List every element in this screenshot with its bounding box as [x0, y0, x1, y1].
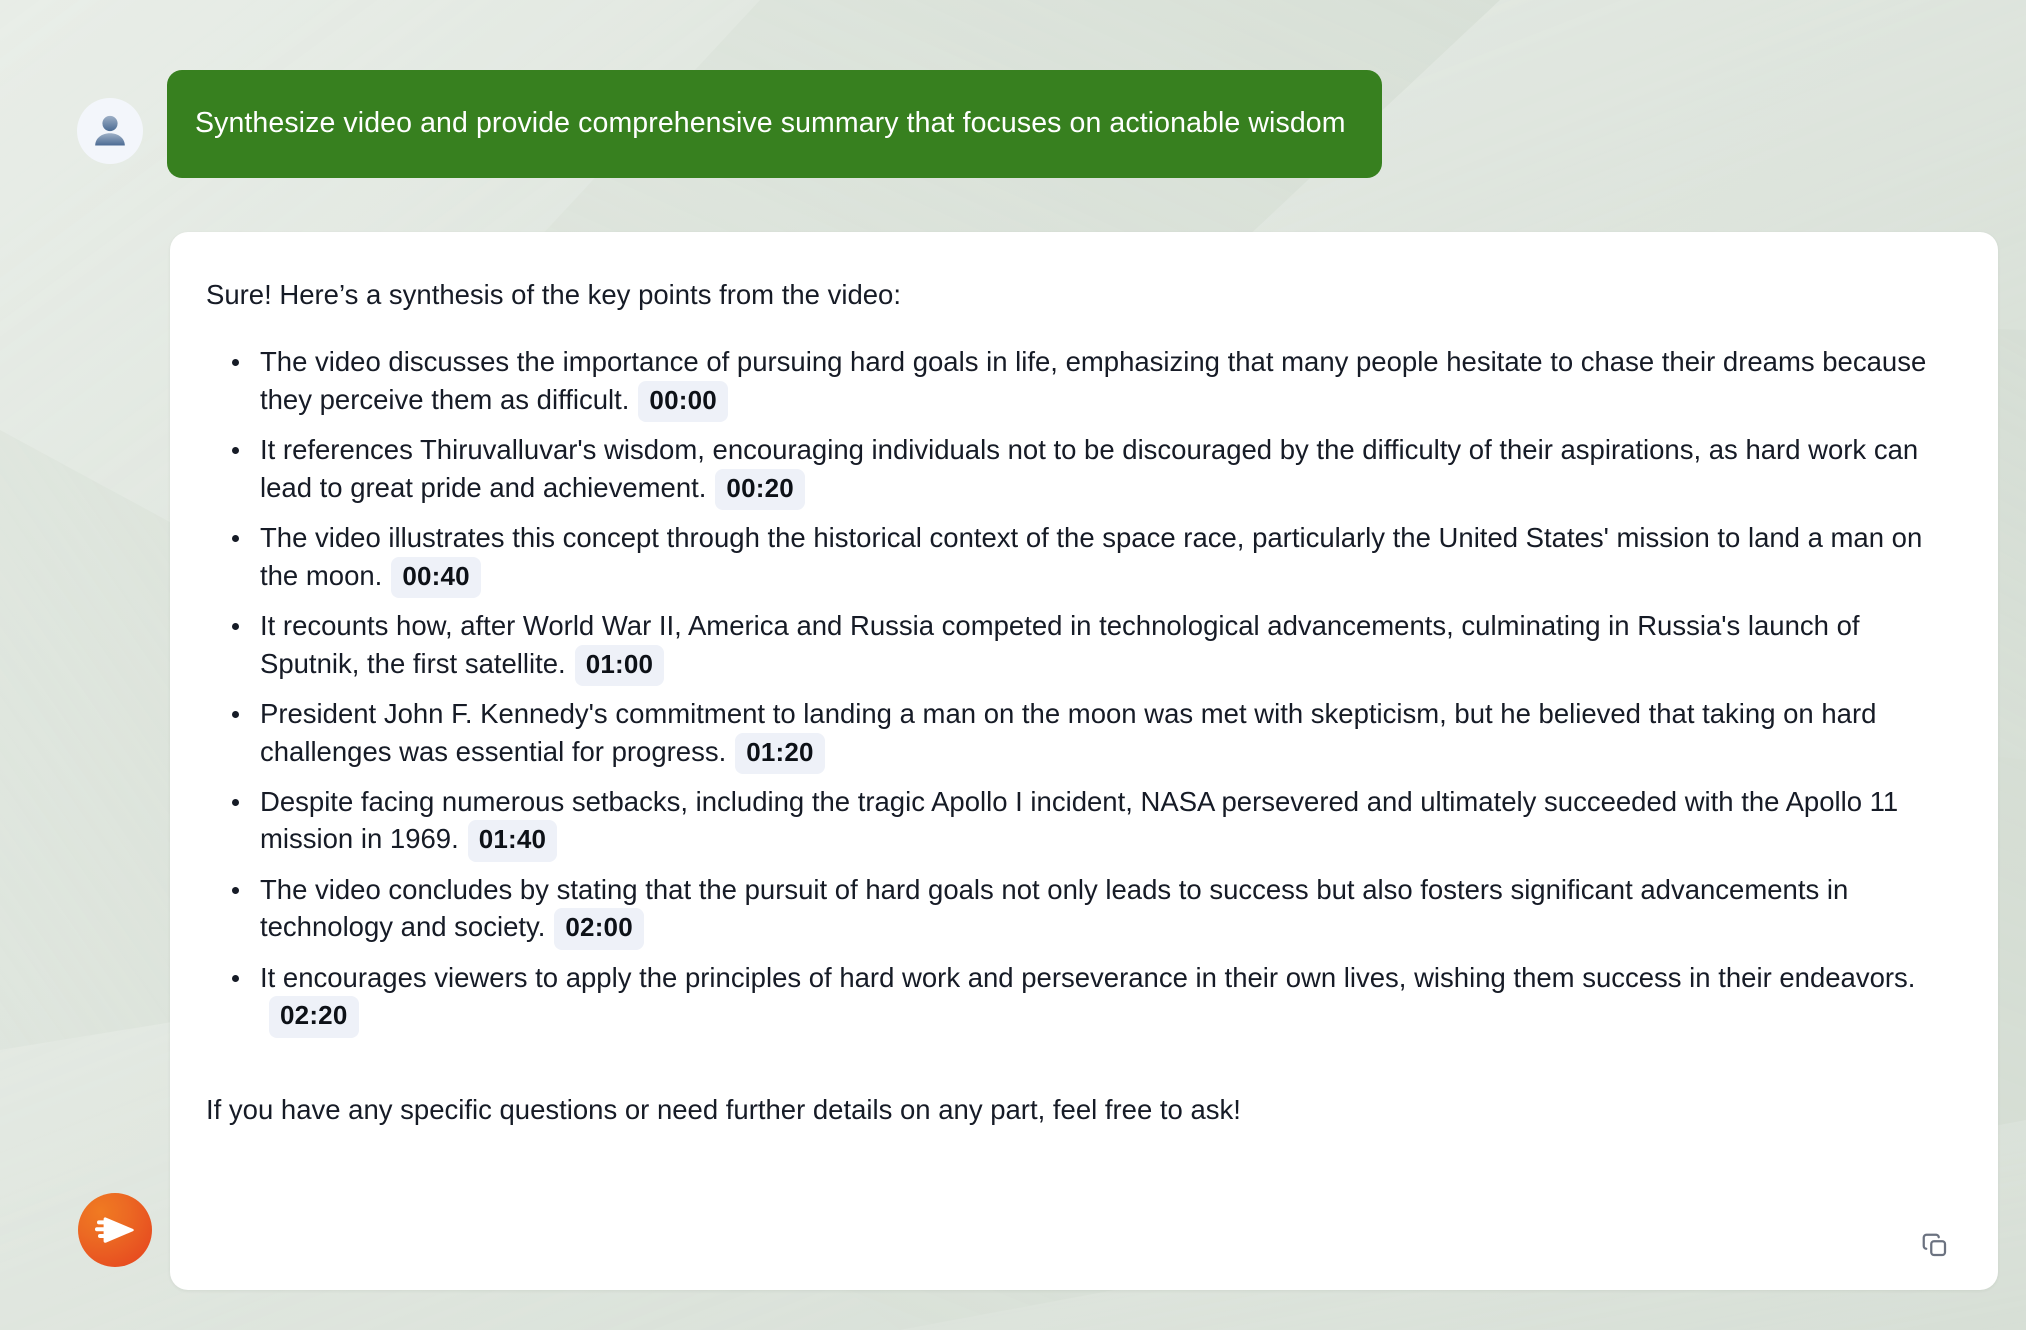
list-item: The video illustrates this concept throu… — [260, 519, 1940, 607]
list-item: The video discusses the importance of pu… — [260, 343, 1940, 431]
user-message-row: Synthesize video and provide comprehensi… — [70, 70, 1970, 178]
bullet-text: The video discusses the importance of pu… — [260, 346, 1926, 414]
timestamp-chip[interactable]: 02:20 — [269, 996, 359, 1037]
user-message-text: Synthesize video and provide comprehensi… — [195, 104, 1346, 142]
conversation-thread: Synthesize video and provide comprehensi… — [0, 0, 2026, 1330]
summary-bullet-list: The video discusses the importance of pu… — [198, 343, 1940, 1046]
user-message-bubble: Synthesize video and provide comprehensi… — [167, 70, 1382, 178]
list-item: It recounts how, after World War II, Ame… — [260, 607, 1940, 695]
bullet-text: The video concludes by stating that the … — [260, 874, 1848, 942]
user-avatar — [77, 98, 143, 164]
timestamp-chip[interactable]: 01:00 — [575, 645, 665, 686]
timestamp-chip[interactable]: 00:00 — [638, 381, 728, 422]
timestamp-chip[interactable]: 02:00 — [554, 908, 644, 949]
assistant-response-card: Sure! Here’s a synthesis of the key poin… — [170, 232, 1998, 1290]
assistant-avatar — [78, 1193, 152, 1267]
copy-icon — [1920, 1230, 1950, 1260]
timestamp-chip[interactable]: 01:40 — [468, 820, 558, 861]
list-item: Despite facing numerous setbacks, includ… — [260, 783, 1940, 871]
list-item: The video concludes by stating that the … — [260, 871, 1940, 959]
bullet-text: President John F. Kennedy's commitment t… — [260, 698, 1876, 766]
outro-paragraph: If you have any specific questions or ne… — [198, 1091, 1940, 1128]
timestamp-chip[interactable]: 00:20 — [715, 469, 805, 510]
video-speed-logo-icon — [92, 1207, 138, 1253]
bullet-text: It references Thiruvalluvar's wisdom, en… — [260, 434, 1918, 502]
list-item: It references Thiruvalluvar's wisdom, en… — [260, 431, 1940, 519]
copy-button[interactable] — [1914, 1224, 1956, 1266]
list-item: President John F. Kennedy's commitment t… — [260, 695, 1940, 783]
bullet-text: It encourages viewers to apply the princ… — [260, 962, 1915, 993]
bullet-text: It recounts how, after World War II, Ame… — [260, 610, 1860, 678]
assistant-response-body: Sure! Here’s a synthesis of the key poin… — [198, 276, 1940, 1128]
timestamp-chip[interactable]: 01:20 — [735, 733, 825, 774]
user-avatar-icon — [90, 111, 130, 151]
list-item: It encourages viewers to apply the princ… — [260, 959, 1940, 1047]
intro-paragraph: Sure! Here’s a synthesis of the key poin… — [198, 276, 1940, 313]
timestamp-chip[interactable]: 00:40 — [391, 557, 481, 598]
bullet-text: The video illustrates this concept throu… — [260, 522, 1922, 590]
